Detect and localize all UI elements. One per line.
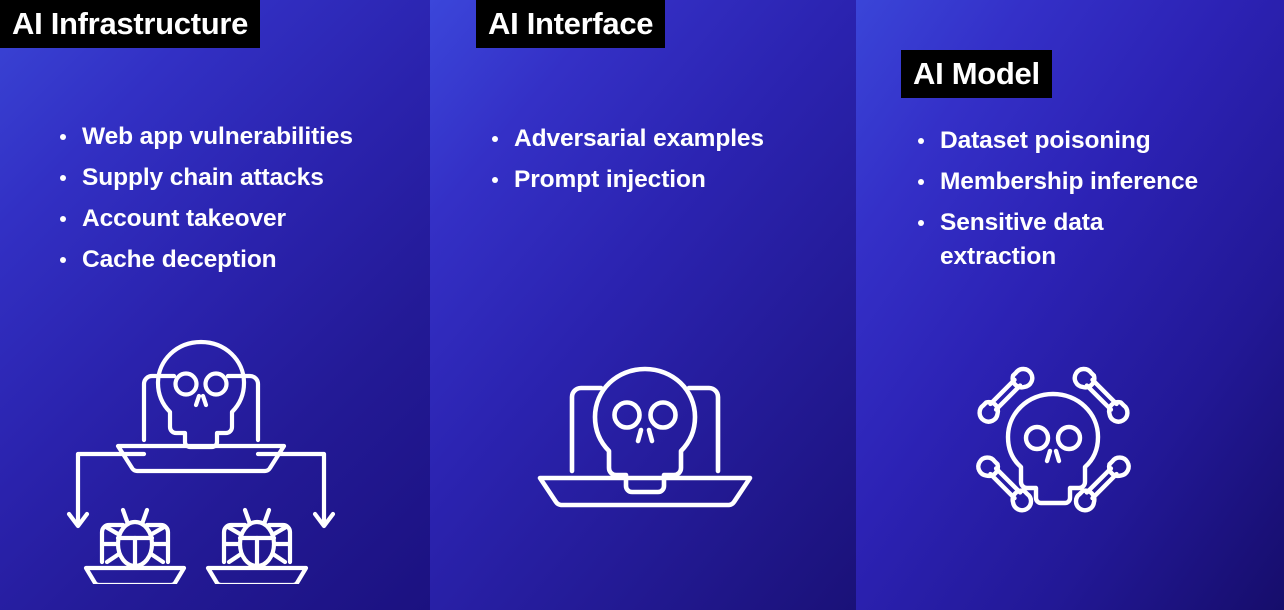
list-item: Supply chain attacks	[56, 161, 386, 195]
list-item: Dataset poisoning	[914, 124, 1214, 158]
panel-title-ai-infrastructure: AI Infrastructure	[0, 0, 260, 48]
panel-ai-model: AI Model Dataset poisoning Membership in…	[856, 0, 1284, 610]
panel-ai-infrastructure: AI Infrastructure Web app vulnerabilitie…	[0, 0, 430, 610]
panel-title-ai-model: AI Model	[901, 50, 1052, 98]
bullet-list-ai-model: Dataset poisoning Membership inference S…	[914, 124, 1214, 281]
list-item: Account takeover	[56, 202, 386, 236]
list-item: Cache deception	[56, 243, 386, 277]
list-item: Membership inference	[914, 165, 1214, 199]
bullet-list-ai-interface: Adversarial examples Prompt injection	[488, 122, 818, 204]
panel-title-ai-interface: AI Interface	[476, 0, 665, 48]
panel-ai-interface: AI Interface Adversarial examples Prompt…	[430, 0, 856, 610]
bullet-list-ai-infrastructure: Web app vulnerabilities Supply chain att…	[56, 120, 386, 284]
list-item: Sensitive data extraction	[914, 206, 1214, 274]
list-item: Adversarial examples	[488, 122, 818, 156]
ai-security-threats-slide: AI Infrastructure Web app vulnerabilitie…	[0, 0, 1284, 610]
laptop-skull-icon	[530, 363, 760, 518]
laptop-skull-branching-icon	[56, 334, 346, 589]
list-item: Prompt injection	[488, 163, 818, 197]
list-item: Web app vulnerabilities	[56, 120, 386, 154]
skull-and-crossbones-icon	[966, 360, 1141, 525]
